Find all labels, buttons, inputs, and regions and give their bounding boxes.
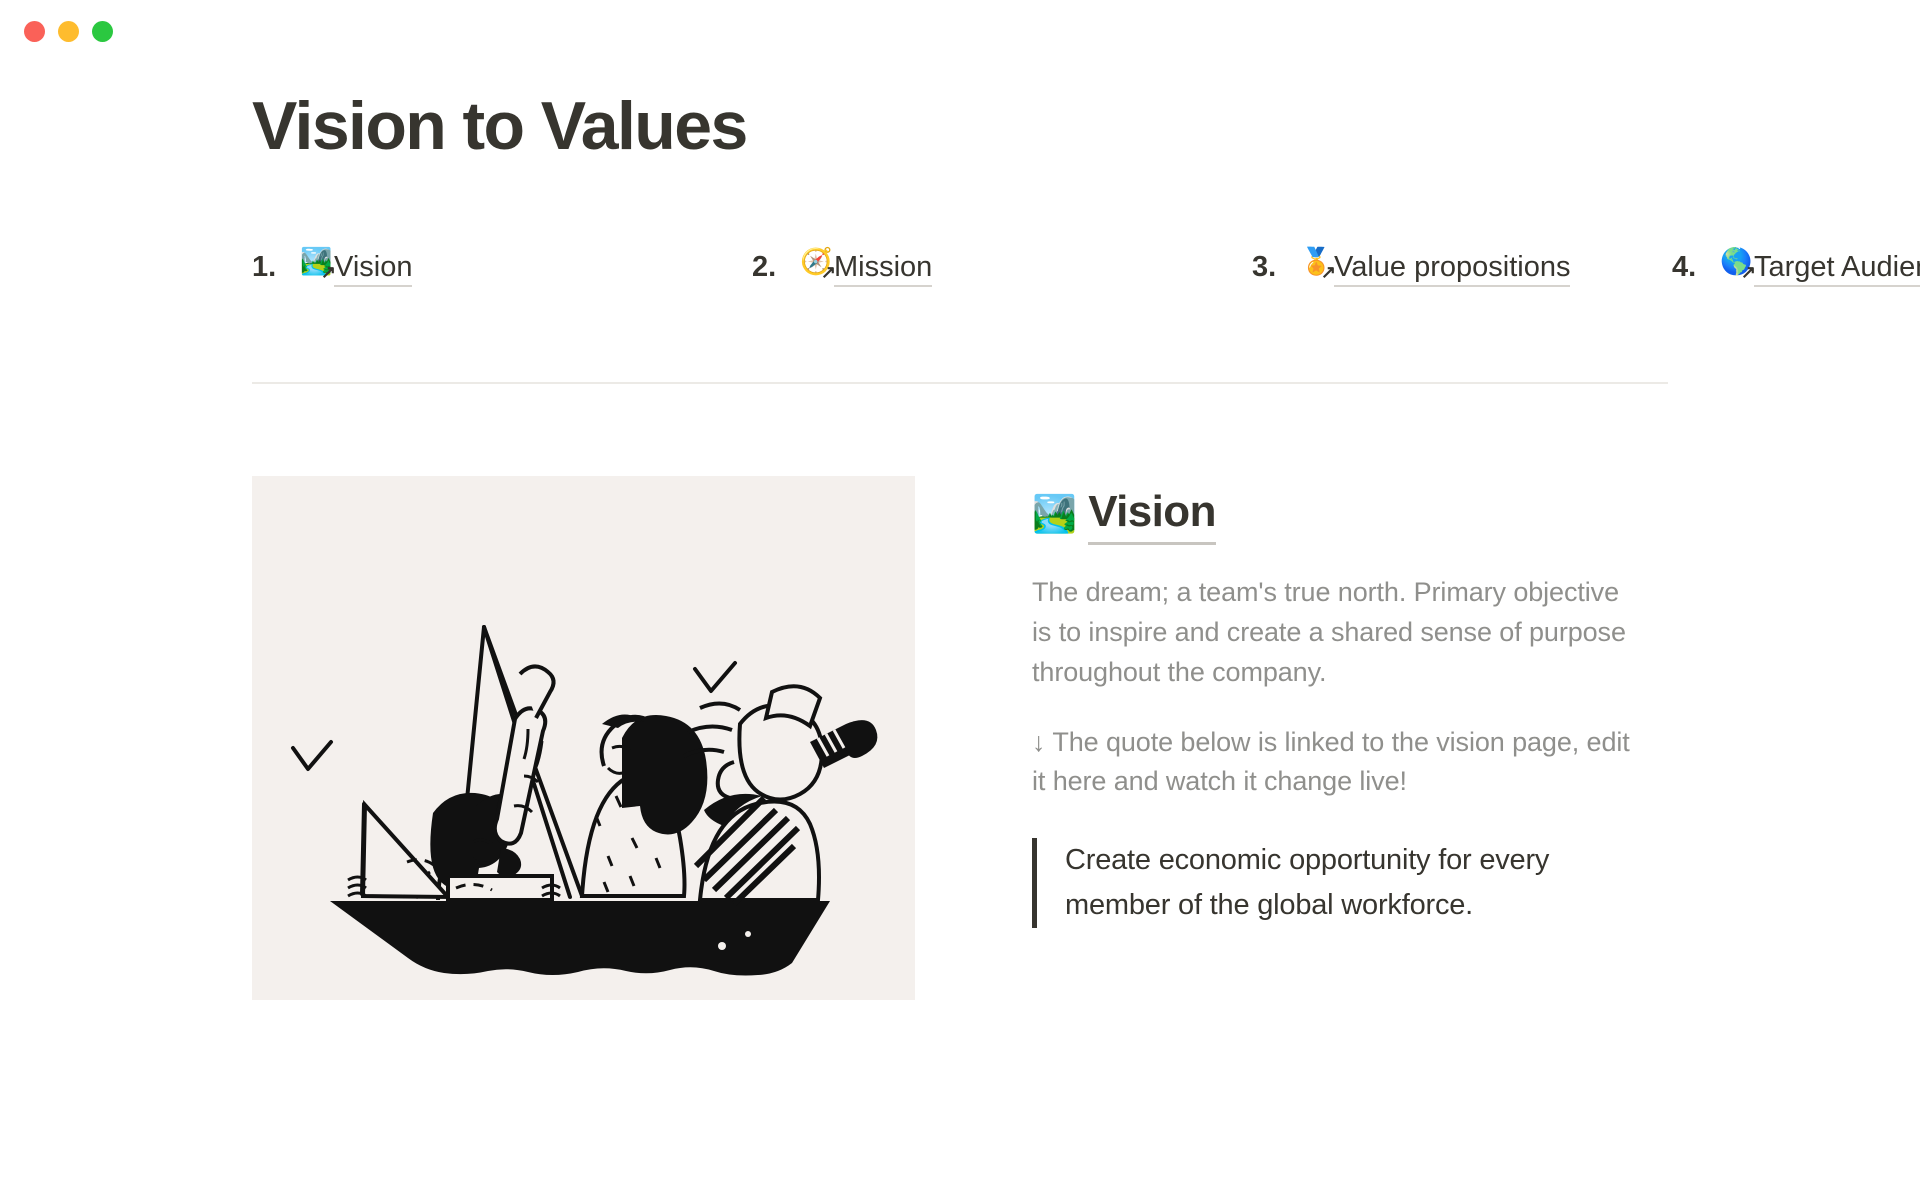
- toc-item-value-propositions[interactable]: 3. 🏅 ↗ Value propositions: [1252, 246, 1672, 287]
- toc-item-mission[interactable]: 2. 🧭 ↗ Mission: [752, 246, 1252, 287]
- external-link-arrow-icon: ↗: [1321, 263, 1336, 281]
- toc-item-number: 2.: [752, 253, 788, 282]
- toc-item-vision[interactable]: 1. 🏞️ ↗ Vision: [252, 246, 752, 287]
- toc-item-icon-wrap: 🌎 ↗: [1720, 246, 1752, 276]
- vision-quote-hint: ↓ The quote below is linked to the visio…: [1032, 723, 1632, 802]
- toc-item-icon-wrap: 🧭 ↗: [800, 246, 832, 276]
- zoom-button[interactable]: [92, 21, 113, 42]
- toc-item-label: Vision: [334, 253, 412, 287]
- vision-quote: Create economic opportunity for every me…: [1032, 838, 1632, 928]
- toc-item-label: Target Audiences: [1754, 253, 1920, 287]
- toc-item-label: Mission: [834, 253, 932, 287]
- toc-item-link[interactable]: 🏅 ↗ Value propositions: [1300, 246, 1570, 287]
- toc-item-number: 4.: [1672, 253, 1708, 282]
- toc-item-number: 1.: [252, 253, 288, 282]
- window-titlebar: [0, 0, 1920, 62]
- external-link-arrow-icon: ↗: [1741, 263, 1756, 281]
- table-of-contents: 1. 🏞️ ↗ Vision 2. 🧭 ↗: [252, 234, 1672, 298]
- vision-heading-label: Vision: [1088, 488, 1216, 545]
- toc-item-icon-wrap: 🏅 ↗: [1300, 246, 1332, 276]
- toc-item-label: Value propositions: [1334, 253, 1570, 287]
- vision-section: 🏞️ Vision The dream; a team's true north…: [252, 476, 1672, 1000]
- toc-item-icon-wrap: 🏞️ ↗: [300, 246, 332, 276]
- traffic-lights: [24, 21, 113, 42]
- document-page: Vision to Values 1. 🏞️ ↗ Vision 2.: [0, 62, 1920, 1200]
- toc-item-number: 3.: [1252, 253, 1288, 282]
- vision-heading: 🏞️ Vision: [1032, 488, 1632, 545]
- content-column: Vision to Values 1. 🏞️ ↗ Vision 2.: [252, 62, 1672, 1000]
- external-link-arrow-icon: ↗: [821, 263, 836, 281]
- app-window: Vision to Values 1. 🏞️ ↗ Vision 2.: [0, 0, 1920, 1200]
- close-button[interactable]: [24, 21, 45, 42]
- vision-description: The dream; a team's true north. Primary …: [1032, 573, 1632, 692]
- external-link-arrow-icon: ↗: [321, 263, 336, 281]
- section-divider: [252, 382, 1668, 384]
- page-title: Vision to Values: [252, 90, 1672, 162]
- toc-item-link[interactable]: 🏞️ ↗ Vision: [300, 246, 412, 287]
- toc-item-target-audiences[interactable]: 4. 🌎 ↗ Target Audiences: [1672, 246, 1920, 287]
- national-park-emoji: 🏞️: [1032, 496, 1076, 532]
- people-in-sailboat-illustration: [252, 476, 915, 1000]
- toc-item-link[interactable]: 🌎 ↗ Target Audiences: [1720, 246, 1920, 287]
- minimize-button[interactable]: [58, 21, 79, 42]
- toc-item-link[interactable]: 🧭 ↗ Mission: [800, 246, 932, 287]
- vision-text-column: 🏞️ Vision The dream; a team's true north…: [1032, 476, 1632, 1000]
